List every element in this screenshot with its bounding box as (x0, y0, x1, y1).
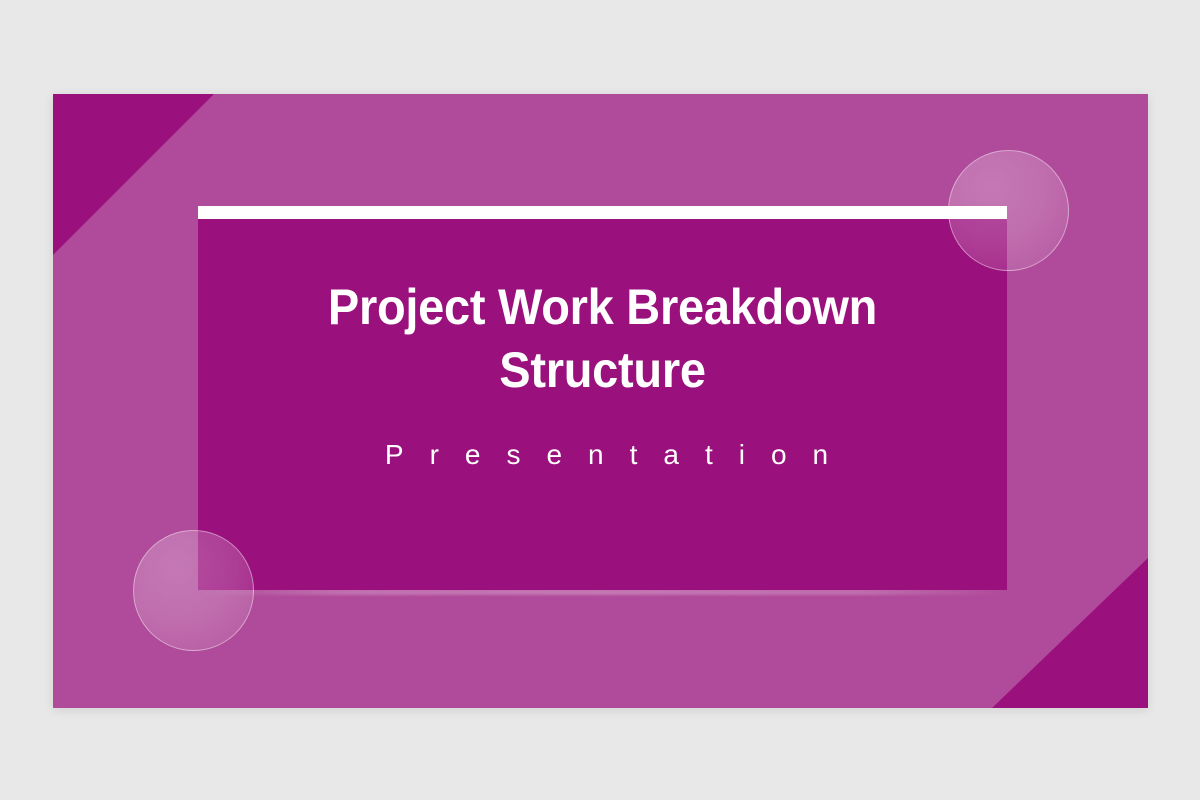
slide-stage: Project Work Breakdown Structure Present… (0, 0, 1200, 800)
title-top-rule (198, 206, 1007, 219)
top-left-corner-triangle-decoration (53, 94, 214, 255)
bottom-right-corner-triangle-decoration (992, 558, 1148, 708)
title-panel: Project Work Breakdown Structure Present… (198, 219, 1007, 590)
presentation-slide[interactable]: Project Work Breakdown Structure Present… (53, 94, 1148, 708)
slide-subtitle: Presentation (198, 438, 1007, 472)
slide-title: Project Work Breakdown Structure (222, 276, 982, 402)
